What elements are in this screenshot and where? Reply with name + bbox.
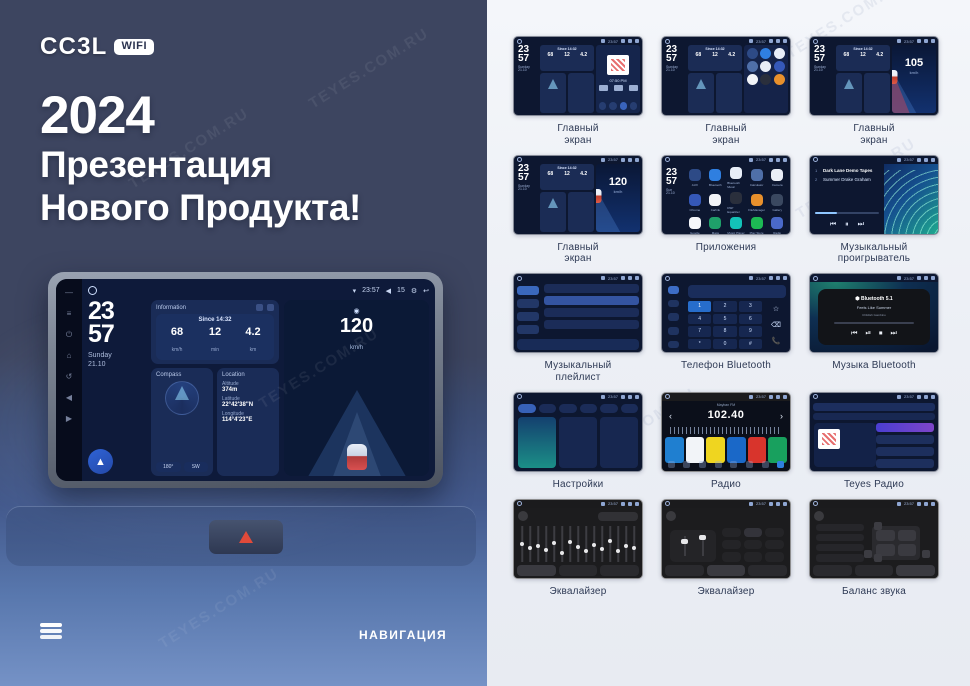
app-icon: [730, 167, 742, 179]
player-bar: [517, 339, 639, 350]
trip-metric-unit: km/h: [172, 347, 183, 353]
home-icon: [813, 276, 818, 281]
app-label: AUX: [692, 183, 698, 187]
app-icon-cell[interactable]: Google: [686, 217, 704, 235]
trip-metric: 12 min: [196, 326, 234, 356]
tab-fade[interactable]: [748, 565, 787, 576]
gear-icon: [924, 502, 928, 506]
play-icon: [614, 85, 623, 91]
app-icon-cell[interactable]: Bluetooth Music: [727, 167, 745, 189]
location-card: [864, 73, 890, 113]
gear-icon: [776, 276, 780, 280]
playlist-row[interactable]: [544, 320, 639, 329]
volume-up-icon[interactable]: ≡: [65, 309, 74, 318]
dialpad-key[interactable]: 4: [688, 314, 711, 325]
clock-column: 23 57 Sunday 21.10 ▲: [88, 300, 146, 476]
thumb-teyes-radio[interactable]: 23:57: [809, 392, 939, 472]
hazard-triangle-icon: [239, 531, 253, 543]
dialpad-key[interactable]: 7: [688, 326, 711, 337]
tab-eq[interactable]: [517, 565, 556, 576]
thumb-home-screen-nav2[interactable]: 23:572357Sunday21.10Since 14:3268124.212…: [513, 155, 643, 235]
preset-grid: [722, 528, 784, 562]
gear-icon: [924, 276, 928, 280]
status-icons: 23:57: [897, 157, 935, 162]
eq-band[interactable]: [591, 526, 597, 562]
wifi-icon: [749, 39, 753, 43]
thumb-status-bar: 23:57: [514, 156, 642, 164]
app-icon-cell[interactable]: AUX: [686, 167, 704, 189]
eq-band[interactable]: [599, 526, 605, 562]
thumbnail-caption: Радио: [711, 479, 741, 491]
app-icon-cell[interactable]: Bluetooth: [707, 167, 725, 189]
eq-band[interactable]: [535, 526, 541, 562]
altitude-value: 374m: [222, 387, 274, 393]
compass-dial: [165, 381, 199, 415]
thumb-home-screen-nav[interactable]: 23:572357Sunday21.10Since 14:3268124.210…: [809, 36, 939, 116]
wifi-icon: [601, 395, 605, 399]
dialpad-key[interactable]: 1: [688, 301, 711, 312]
wifi-icon: [749, 158, 753, 162]
widget-column: Information Since 14:32: [151, 300, 279, 476]
wifi-icon: [897, 158, 901, 162]
gallery-cell: 23:57Настройки: [509, 392, 647, 491]
thumbnail-caption: Настройки: [553, 479, 604, 491]
thumb-status-bar: 23:57: [810, 37, 938, 45]
app-icon: [709, 169, 721, 181]
volume-icon: [621, 158, 625, 162]
dialpad-key[interactable]: 6: [739, 314, 762, 325]
gallery-cell: 23:572357Sunday21.10Since 14:3268124.207…: [509, 36, 647, 147]
settings-tab[interactable]: [600, 404, 618, 413]
app-icon: [709, 194, 721, 206]
call-icon: 📞: [772, 337, 781, 345]
app-label: Google: [690, 231, 700, 235]
refresh-icon[interactable]: [256, 304, 263, 311]
home-icon: [517, 501, 522, 506]
radio-tool-icon[interactable]: [762, 461, 769, 468]
settings-tab[interactable]: [559, 404, 577, 413]
compass-readouts: 180° SW: [156, 462, 208, 472]
app-icon: [709, 217, 721, 229]
thumb-widgets: Since 14:3268124.2: [688, 45, 742, 113]
gallery-cell: 23:57Mayban FM102.40‹›Радио: [657, 392, 795, 491]
hazard-button[interactable]: [209, 520, 283, 554]
trip-info: Since 14:32 68 km/h 12 min: [156, 314, 274, 360]
status-icons: 23:57: [749, 39, 787, 44]
car-graphic: [596, 189, 602, 203]
dialpad-key[interactable]: #: [739, 339, 762, 350]
thumb-status-bar: 23:57: [662, 274, 790, 282]
app-label: Chrome: [689, 208, 700, 212]
radio-tool-icon[interactable]: [699, 461, 706, 468]
tab-sound[interactable]: [559, 565, 598, 576]
gear-icon: [628, 39, 632, 43]
preset-cell[interactable]: [744, 528, 763, 537]
play-pause-icon: ⏯: [865, 330, 871, 338]
tab-fade[interactable]: [600, 565, 639, 576]
car-graphic: [892, 70, 898, 84]
back-icon: [783, 502, 787, 506]
eq-band[interactable]: [527, 526, 533, 562]
information-card: Since 14:3268124.2: [540, 164, 594, 190]
settings-tab[interactable]: [580, 404, 598, 413]
gear-icon: [924, 395, 928, 399]
location-card: [568, 192, 594, 232]
eq-tabs: [517, 565, 639, 576]
settings-tab[interactable]: [621, 404, 639, 413]
back-icon: [931, 276, 935, 280]
app-label: Music Player: [727, 231, 744, 235]
radio-band: Mayban FM: [662, 403, 790, 407]
gear-icon: [628, 276, 632, 280]
eq-band[interactable]: [519, 526, 525, 562]
status-icons: ▾ 23:57 ◀ 15 ⚙ ↩: [353, 287, 429, 295]
back-icon[interactable]: ↺: [65, 372, 74, 381]
home-icon: [517, 157, 522, 162]
prev-track-icon[interactable]: ◀: [65, 393, 74, 402]
thumbnail-caption: Музыкальныйпроигрыватель: [838, 242, 910, 266]
radio-tool-icon[interactable]: [730, 461, 737, 468]
app-label: DSP Equalizer: [727, 206, 745, 214]
thumbnail-caption: Приложения: [696, 242, 757, 254]
preset-cell[interactable]: [722, 528, 741, 537]
bt-artist: Childish Gambino: [862, 313, 886, 317]
phone-sidebar: [662, 282, 684, 352]
thumbnail-caption: Главныйэкран: [557, 123, 598, 147]
tab-eq[interactable]: [665, 565, 704, 576]
information-card-actions[interactable]: [256, 304, 274, 311]
trip-metric-value: 68: [158, 326, 196, 338]
information-card: Since 14:3268124.2: [688, 45, 742, 71]
trip-metric-value: 12: [196, 326, 234, 338]
volume-level: 15: [397, 287, 405, 294]
thumb-bluetooth-phone[interactable]: 23:57123456789*0#☆⌫📞: [661, 273, 791, 353]
more-card[interactable]: [600, 417, 638, 468]
home-icon: [517, 39, 522, 44]
status-icons: 23:57: [897, 276, 935, 281]
backspace-icon: ⌫: [771, 321, 781, 329]
eq-band[interactable]: [583, 526, 589, 562]
location-card[interactable]: Location Altitude 374m Latitude 22°42'38…: [217, 368, 279, 476]
clock-day: Sunday: [88, 351, 146, 360]
wifi-icon: [601, 502, 605, 506]
thumb-applications[interactable]: 23:572357Sun21.10AUXBluetoothBluetooth M…: [661, 155, 791, 235]
thumbnail-caption: Главныйэкран: [557, 242, 598, 266]
volume-icon: [917, 395, 921, 399]
volume-icon: [769, 276, 773, 280]
volume-down-icon[interactable]: —: [65, 288, 74, 297]
home-icon: [665, 501, 670, 506]
hero-headline-line1: Презентация: [40, 144, 361, 187]
eq-band[interactable]: [631, 526, 637, 562]
status-icons: 23:57: [601, 157, 639, 162]
dialpad-key[interactable]: 2: [713, 301, 736, 312]
app-icon-cell[interactable]: Carlink: [707, 192, 725, 214]
gallery-cell: 23:57Музыкальныйплейлист: [509, 273, 647, 384]
preset-cell[interactable]: [765, 540, 784, 549]
thumb-status-bar: 23:57: [810, 156, 938, 164]
app-label: Bluetooth: [709, 183, 722, 187]
thumb-settings[interactable]: 23:57: [513, 392, 643, 472]
eq-band[interactable]: [607, 526, 613, 562]
app-label: Play Store: [750, 231, 764, 235]
gallery-cell: 23:571Dark Lane Demo Tapes2Summer Drake …: [805, 155, 943, 266]
home-icon[interactable]: ⌂: [65, 351, 74, 360]
app-label: Maps: [712, 231, 719, 235]
gear-icon: [776, 39, 780, 43]
app-icon-cell[interactable]: FileManager: [748, 192, 766, 214]
eq-band[interactable]: [543, 526, 549, 562]
eq-band[interactable]: [615, 526, 621, 562]
wifi-card[interactable]: [518, 417, 556, 468]
back-icon: [635, 39, 639, 43]
hero-footer-label: НАВИГАЦИЯ: [359, 628, 447, 642]
playlist-row[interactable]: [544, 308, 639, 317]
thumbnail-caption: Телефон Bluetooth: [681, 360, 771, 372]
bt-track: Feels Like Summer: [857, 305, 891, 310]
app-icon: [751, 217, 763, 229]
eq-header: [518, 511, 638, 522]
app-label: Camera: [772, 183, 783, 187]
thumbnail-grid: 23:572357Sunday21.10Since 14:3268124.207…: [509, 36, 954, 597]
eq-band[interactable]: [567, 526, 573, 562]
thumb-home-screen-apps[interactable]: 23:572357Sunday21.10Since 14:3268124.2: [661, 36, 791, 116]
gear-icon: [628, 502, 632, 506]
status-icons: 23:57: [601, 39, 639, 44]
teyes-top-tabs[interactable]: [813, 403, 935, 411]
track-list: 1Dark Lane Demo Tapes2Summer Drake Graha…: [810, 164, 887, 234]
gallery-cell: 23:57123456789*0#☆⌫📞Телефон Bluetooth: [657, 273, 795, 384]
preset-cell[interactable]: [722, 552, 741, 561]
thumbnail-caption: Главныйэкран: [705, 123, 746, 147]
wifi-icon: [897, 395, 901, 399]
screen-content: ▾ 23:57 ◀ 15 ⚙ ↩ 23 57 Sunday: [82, 279, 435, 481]
thumbnail-caption: Главныйэкран: [853, 123, 894, 147]
back-icon[interactable]: ↩: [423, 287, 429, 295]
radio-tool-icon[interactable]: [715, 461, 722, 468]
radio-frequency: 102.40: [662, 409, 790, 421]
prev-station-icon[interactable]: ‹: [669, 411, 672, 421]
eq-power-icon[interactable]: [814, 511, 824, 521]
power-icon[interactable]: ⏻: [65, 330, 74, 339]
screen-status-bar: ▾ 23:57 ◀ 15 ⚙ ↩: [88, 284, 429, 297]
volume-icon: [769, 395, 773, 399]
eq-band[interactable]: [623, 526, 629, 562]
thumb-status-bar: 23:57: [514, 393, 642, 401]
app-shortcuts: [744, 45, 788, 113]
media-widget: 07:50 PM: [596, 45, 640, 113]
trip-metric: 4.2 km: [234, 326, 272, 356]
app-label: Calculator: [750, 183, 764, 187]
app-label: Bluetooth Music: [727, 181, 745, 189]
thumb-status-bar: 23:57: [662, 500, 790, 508]
thumb-status-bar: 23:57: [514, 500, 642, 508]
thumb-equalizer-2[interactable]: 23:57: [661, 499, 791, 579]
speed-unit: km/h: [350, 345, 363, 351]
status-icons: 23:57: [601, 394, 639, 399]
equalizer-presets-screen: [662, 508, 790, 578]
screen-main-area: 23 57 Sunday 21.10 ▲ Information: [88, 300, 429, 476]
thumb-clock: 2357Sunday21.10: [812, 45, 834, 113]
wifi-icon: [749, 395, 753, 399]
hotspot-card[interactable]: [559, 417, 597, 468]
tab-fade[interactable]: [896, 565, 935, 576]
radio-tool-icon[interactable]: [668, 461, 675, 468]
gear-icon[interactable]: ⚙: [411, 287, 417, 295]
preset-cell[interactable]: [744, 540, 763, 549]
home-icon: [665, 157, 670, 162]
station-row[interactable]: [876, 447, 934, 456]
back-icon: [783, 158, 787, 162]
compass-card: [540, 73, 566, 113]
call-actions: ☆⌫📞: [765, 301, 787, 349]
app-icon-cell[interactable]: Camera: [768, 167, 786, 189]
tab-sound[interactable]: [707, 565, 746, 576]
information-card[interactable]: Information Since 14:32: [151, 300, 279, 364]
logo-wifi-badge: WIFI: [114, 39, 154, 55]
app-icon: [771, 217, 783, 229]
home-icon: [517, 394, 522, 399]
thumb-radio[interactable]: 23:57Mayban FM102.40‹›: [661, 392, 791, 472]
thumb-status-bar: 23:57: [662, 156, 790, 164]
eq-band[interactable]: [551, 526, 557, 562]
playlist-row[interactable]: [544, 296, 639, 305]
gallery-cell: 23:572357Sunday21.10Since 14:3268124.2Гл…: [657, 36, 795, 147]
app-drawer: AUXBluetoothBluetooth MusicCalculatorCam…: [686, 167, 786, 230]
tab-sound[interactable]: [855, 565, 894, 576]
status-icons: 23:57: [601, 501, 639, 506]
balance-screen: [810, 508, 938, 578]
expand-icon[interactable]: [267, 304, 274, 311]
back-icon: [783, 276, 787, 280]
thumb-bluetooth-music[interactable]: 23:57⬢ Bluetooth 5.1Feels Like SummerChi…: [809, 273, 939, 353]
logo-text: CC3L: [40, 33, 107, 61]
thumb-clock: 2357Sunday21.10: [516, 164, 538, 232]
dialpad-key[interactable]: 3: [739, 301, 762, 312]
album-art: [607, 55, 629, 75]
app-label: Carlink: [711, 208, 720, 212]
back-icon: [635, 158, 639, 162]
thumb-home-screen-media[interactable]: 23:572357Sunday21.10Since 14:3268124.207…: [513, 36, 643, 116]
eq-power-icon[interactable]: [518, 511, 528, 521]
radio-tool-icon[interactable]: [746, 461, 753, 468]
home-icon: [665, 39, 670, 44]
app-icon-cell[interactable]: Radio: [768, 217, 786, 235]
settings-tab[interactable]: [539, 404, 557, 413]
compass-card[interactable]: Compass 180° SW: [151, 368, 213, 476]
dialpad-key[interactable]: 0: [713, 339, 736, 350]
preset-cell[interactable]: [765, 528, 784, 537]
screenshot-gallery-panel: TEYES.COM.RU TEYES.COM.RU TEYES.COM.RU 2…: [487, 0, 970, 686]
volume-icon: [621, 39, 625, 43]
eq-band[interactable]: [559, 526, 565, 562]
thumb-sound-balance[interactable]: 23:57: [809, 499, 939, 579]
dialpad-key[interactable]: *: [688, 339, 711, 350]
radio-tool-icon[interactable]: [683, 461, 690, 468]
app-icon-cell[interactable]: Chrome: [686, 192, 704, 214]
clock-minutes: 57: [88, 323, 146, 346]
volume-icon: [917, 39, 921, 43]
status-icons: 23:57: [749, 157, 787, 162]
thumb-status-bar: 23:57: [810, 274, 938, 282]
wifi-icon: [601, 39, 605, 43]
app-icon-cell[interactable]: Music Player: [727, 217, 745, 235]
screen-side-rail[interactable]: — ≡ ⏻ ⌂ ↺ ◀ ▶: [56, 279, 82, 481]
thumb-music-playlist[interactable]: 23:57: [513, 273, 643, 353]
tab-eq[interactable]: [813, 565, 852, 576]
speed-value: 120: [596, 176, 640, 188]
thumb-clock: 2357Sunday21.10: [664, 45, 686, 113]
compass-card: [688, 73, 714, 113]
home-icon: [517, 276, 522, 281]
thumb-widgets: Since 14:3268124.2: [836, 45, 890, 113]
station-row[interactable]: [876, 435, 934, 444]
station-row[interactable]: [876, 459, 934, 468]
app-icon-cell[interactable]: Gallery: [768, 192, 786, 214]
eq-band[interactable]: [575, 526, 581, 562]
gallery-cell: 23:57Teyes Радио: [805, 392, 943, 491]
preset-cell[interactable]: [722, 540, 741, 549]
product-logo: CC3L WIFI: [40, 33, 154, 61]
longitude-value: 114°4'23"E: [222, 417, 274, 423]
speed-value: 120: [284, 316, 429, 336]
wifi-icon: [897, 39, 901, 43]
status-icons: 23:57: [897, 394, 935, 399]
radio-tool-icon[interactable]: [777, 461, 784, 468]
preset-cell[interactable]: [744, 552, 763, 561]
next-station-icon[interactable]: ›: [780, 411, 783, 421]
lower-widgets: Compass 180° SW Location Altitude: [151, 368, 279, 476]
next-icon: [629, 85, 638, 91]
navigation-preview[interactable]: ◉ 120 km/h: [284, 300, 429, 476]
app-icon-cell[interactable]: DSP Equalizer: [727, 192, 745, 214]
settings-tab[interactable]: [518, 404, 536, 413]
thumbnail-caption: Эквалайзер: [698, 586, 755, 598]
app-icon-cell[interactable]: Play Store: [748, 217, 766, 235]
eq-power-icon[interactable]: [666, 511, 676, 521]
next-track-icon[interactable]: ▶: [65, 414, 74, 423]
status-icons: 23:57: [897, 39, 935, 44]
status-icons: 23:57: [749, 501, 787, 506]
thumb-status-bar: 23:57: [662, 393, 790, 401]
bluetooth-music-screen: ⬢ Bluetooth 5.1Feels Like SummerChildish…: [810, 282, 938, 352]
teyes-filter-tabs[interactable]: [813, 413, 935, 420]
volume-icon: [621, 276, 625, 280]
home-icon: [665, 276, 670, 281]
dialpad-key[interactable]: 5: [713, 314, 736, 325]
back-icon: [635, 502, 639, 506]
navigation-fab-button[interactable]: ▲: [88, 449, 113, 474]
dialpad-key[interactable]: 9: [739, 326, 762, 337]
phone-number-field[interactable]: [688, 285, 786, 298]
information-card-header: Information: [156, 304, 274, 311]
app-icon: [689, 169, 701, 181]
status-home-icon[interactable]: [88, 286, 97, 295]
gallery-cell: 23:572357Sunday21.10Since 14:3268124.212…: [509, 155, 647, 266]
hero-panel: CC3L WIFI 2024 Презентация Нового Продук…: [0, 0, 487, 686]
thumb-music-player[interactable]: 23:571Dark Lane Demo Tapes2Summer Drake …: [809, 155, 939, 235]
information-card: Since 14:3268124.2: [836, 45, 890, 71]
dialpad: 123456789*0#: [688, 301, 762, 349]
back-icon: [635, 395, 639, 399]
preset-cell[interactable]: [765, 552, 784, 561]
thumb-equalizer[interactable]: 23:57: [513, 499, 643, 579]
playlist-row[interactable]: [544, 284, 639, 293]
dialpad-key[interactable]: 8: [713, 326, 736, 337]
app-icon-cell[interactable]: Maps: [707, 217, 725, 235]
station-row[interactable]: [876, 423, 934, 432]
app-icon-cell[interactable]: Calculator: [748, 167, 766, 189]
